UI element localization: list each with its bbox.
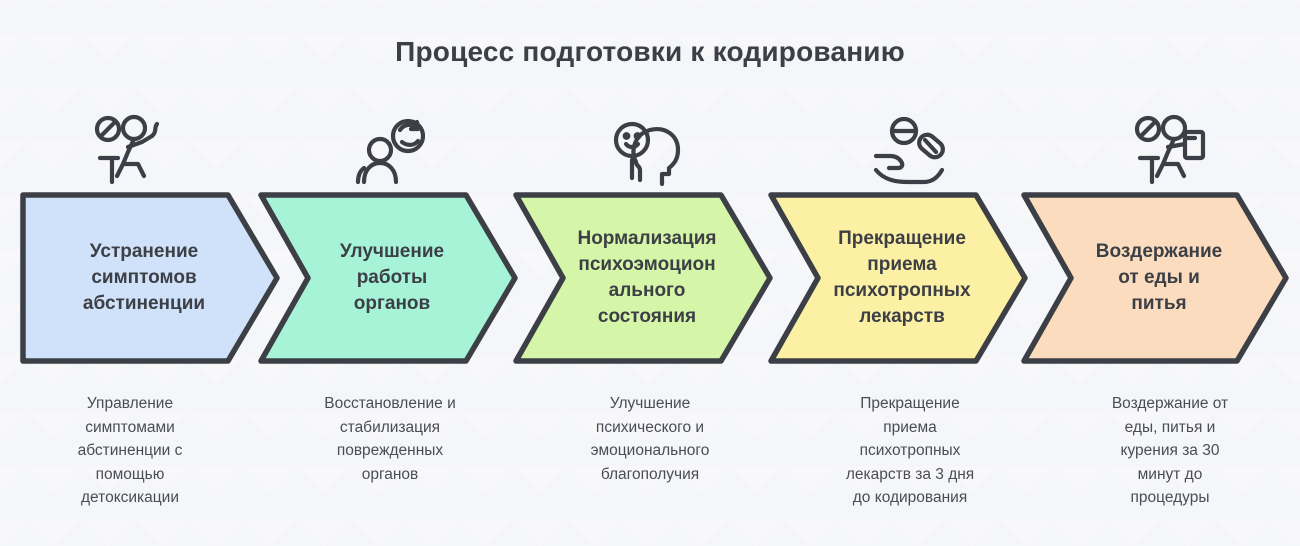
step-caption-4: Прекращение приема психотропных лекарств… xyxy=(780,392,1040,510)
step-label-1: Устранение симптомов абстиненции xyxy=(20,192,280,364)
step-chevron-4[interactable]: Прекращение приема психотропных лекарств xyxy=(768,192,1028,364)
step-label-4: Прекращение приема психотропных лекарств xyxy=(768,192,1028,364)
step-label-3: Нормализация психоэмоцион ального состоя… xyxy=(513,192,773,364)
page-title: Процесс подготовки к кодированию xyxy=(0,36,1300,68)
step-chevron-3[interactable]: Нормализация психоэмоцион ального состоя… xyxy=(513,192,773,364)
step-chevron-5[interactable]: Воздержание от еды и питья xyxy=(1021,192,1289,364)
step-caption-1: Управление симптомами абстиненции с помо… xyxy=(0,392,260,510)
icon-cell-4 xyxy=(780,108,1040,186)
icon-cell-3 xyxy=(520,108,780,186)
hand-pills-icon xyxy=(870,114,950,186)
icon-row xyxy=(0,108,1300,186)
step-caption-3: Улучшение психического и эмоционального … xyxy=(520,392,780,510)
step-caption-5: Воздержание от еды, питья и курения за 3… xyxy=(1040,392,1300,510)
icon-cell-1 xyxy=(0,108,260,186)
step-label-5: Воздержание от еды и питья xyxy=(1021,192,1289,364)
step-label-2: Улучшение работы органов xyxy=(258,192,518,364)
step-chevron-2[interactable]: Улучшение работы органов xyxy=(258,192,518,364)
icon-cell-5 xyxy=(1040,108,1300,186)
caption-row: Управление симптомами абстиненции с помо… xyxy=(0,392,1300,510)
step-chevron-1[interactable]: Устранение симптомов абстиненции xyxy=(20,192,280,364)
no-smoking-person-icon xyxy=(90,114,170,186)
no-eating-person-icon xyxy=(1130,114,1210,186)
icon-cell-2 xyxy=(260,108,520,186)
head-smiley-icon xyxy=(610,114,690,186)
chevron-row: Устранение симптомов абстиненции Улучшен… xyxy=(0,192,1300,364)
step-caption-2: Восстановление и стабилизация поврежденн… xyxy=(260,392,520,510)
person-recovery-icon xyxy=(350,114,430,186)
